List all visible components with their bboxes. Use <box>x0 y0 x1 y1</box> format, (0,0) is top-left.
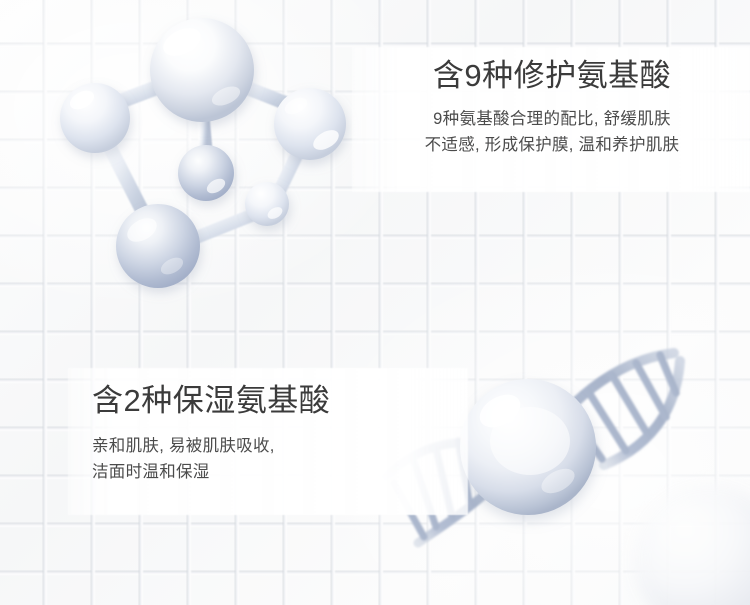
top-body-line-2: 不适感, 形成保护膜, 温和养护肌肤 <box>352 132 750 159</box>
bottom-headline: 含2种保湿氨基酸 <box>92 383 472 419</box>
top-body-line-1: 9种氨基酸合理的配比, 舒缓肌肤 <box>352 106 750 133</box>
bottom-body-line-1: 亲和肌肤, 易被肌肤吸收, <box>92 433 472 460</box>
bottom-body-line-2: 洁面时温和保湿 <box>92 459 472 486</box>
bottom-left-text-block: 含2种保湿氨基酸 亲和肌肤, 易被肌肤吸收, 洁面时温和保湿 <box>92 383 472 486</box>
infographic-page: 含9种修护氨基酸 9种氨基酸合理的配比, 舒缓肌肤 不适感, 形成保护膜, 温和… <box>0 0 750 605</box>
top-right-text-block: 含9种修护氨基酸 9种氨基酸合理的配比, 舒缓肌肤 不适感, 形成保护膜, 温和… <box>352 58 750 159</box>
top-headline: 含9种修护氨基酸 <box>352 58 750 94</box>
